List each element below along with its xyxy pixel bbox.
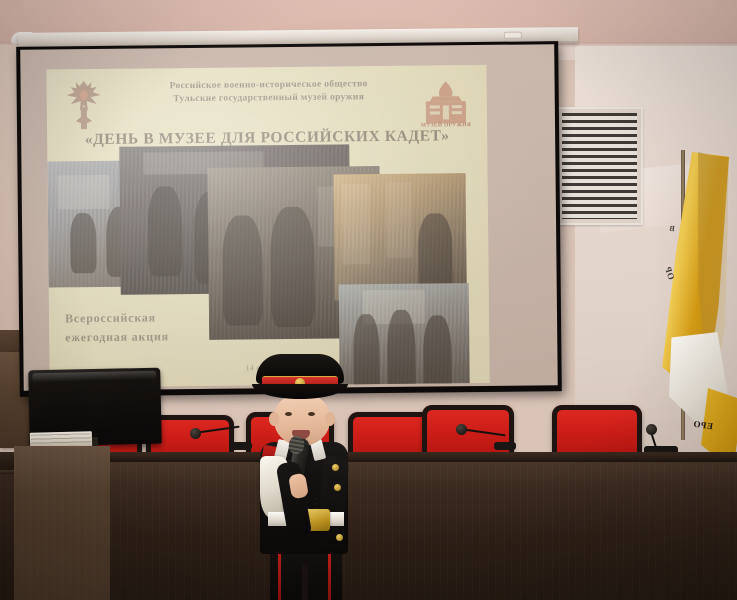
monitor-screen-sheen bbox=[32, 371, 156, 383]
photo-figure bbox=[148, 186, 183, 276]
slide-org-line-2: Тульские государственный музей оружия bbox=[119, 91, 419, 107]
cadet-ear-right bbox=[325, 412, 335, 426]
front-podium-panel bbox=[104, 462, 737, 600]
photo-figure bbox=[270, 207, 315, 327]
trouser-stripe-left bbox=[278, 548, 281, 600]
side-table bbox=[14, 446, 110, 600]
mic-head bbox=[456, 424, 467, 435]
mic-base bbox=[494, 442, 516, 450]
photo-highlight bbox=[58, 175, 110, 210]
slide-photo-museum-interior bbox=[334, 173, 467, 300]
photo-figure bbox=[70, 213, 97, 273]
mic-head bbox=[646, 424, 657, 435]
slide-subtitle-line-2: ежегодная акция bbox=[65, 327, 169, 347]
paper-sheet-lines bbox=[31, 433, 91, 447]
podium-wood-grain bbox=[104, 462, 737, 600]
ventilation-grille-icon bbox=[556, 107, 643, 225]
slide-subtitle: Всероссийская ежегодная акция bbox=[65, 308, 169, 347]
cadet-boy bbox=[240, 352, 366, 600]
screen-housing-knob bbox=[504, 32, 522, 39]
photo-figure bbox=[423, 315, 452, 387]
banner-text-fragment-1: В bbox=[669, 224, 675, 233]
photo-figure bbox=[222, 215, 263, 325]
ceremonial-banner: В ОР ЕРО bbox=[641, 152, 729, 442]
photo-highlight bbox=[342, 184, 371, 264]
screen-surface: Российское военно-историческое общество … bbox=[20, 44, 558, 391]
photo-highlight bbox=[386, 182, 413, 258]
cadet-cap-visor bbox=[252, 384, 348, 399]
cadet-eye-right bbox=[308, 412, 315, 416]
tunic-button-1 bbox=[332, 464, 339, 471]
tunic-button-2 bbox=[334, 484, 341, 491]
slide-organization-text: Российское военно-историческое общество … bbox=[119, 78, 419, 107]
museum-logo-icon bbox=[413, 79, 479, 128]
double-headed-eagle-emblem-icon bbox=[57, 77, 112, 134]
banner-text-fragment-3: ЕРО bbox=[692, 419, 713, 432]
tunic-button-3 bbox=[336, 534, 343, 541]
slide-subtitle-line-1: Всероссийская bbox=[65, 308, 169, 328]
cadet-ear-left bbox=[269, 412, 279, 426]
photo-figure bbox=[387, 310, 416, 388]
vent-slats bbox=[562, 113, 637, 219]
side-table-grain bbox=[14, 446, 110, 600]
trouser-stripe-right bbox=[328, 548, 331, 600]
photo-figure bbox=[418, 213, 453, 293]
conference-hall-photo: В ОР ЕРО bbox=[0, 0, 737, 600]
pull-down-projection-screen: Российское военно-историческое общество … bbox=[16, 41, 562, 397]
cadet-eye-left bbox=[285, 412, 292, 416]
cadet-leg-gap bbox=[302, 564, 308, 600]
projected-slide: Российское военно-историческое общество … bbox=[46, 65, 489, 388]
mic-head bbox=[190, 428, 201, 439]
